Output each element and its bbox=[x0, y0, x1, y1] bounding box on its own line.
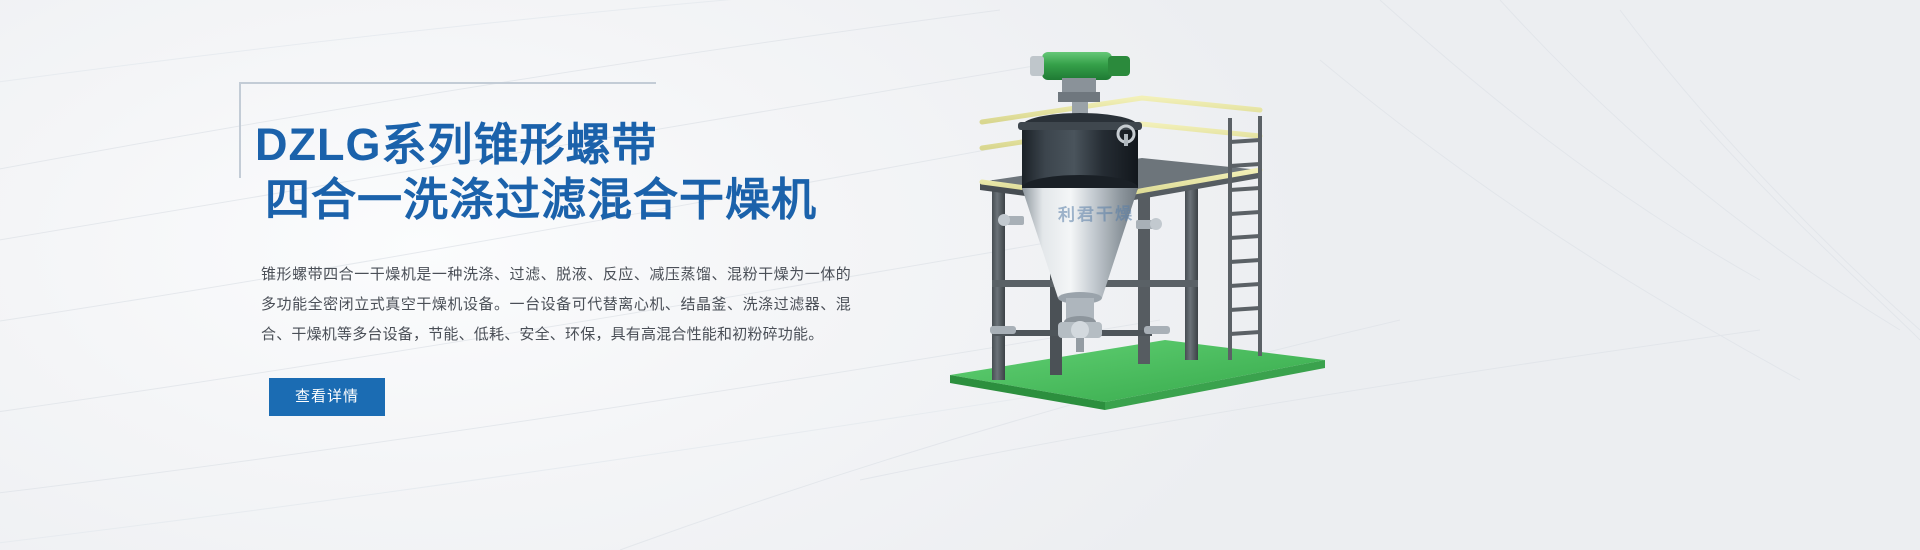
product-image: 利君干燥 bbox=[930, 30, 1350, 430]
title-line-1: DZLG系列锥形螺带 bbox=[255, 118, 875, 173]
product-watermark: 利君干燥 bbox=[1058, 199, 1134, 225]
banner-content: DZLG系列锥形螺带 四合一洗涤过滤混合干燥机 锥形螺带四合一干燥机是一种洗涤、… bbox=[255, 92, 875, 416]
decorative-frame-top bbox=[239, 82, 656, 84]
vessel-icon bbox=[1018, 113, 1142, 352]
product-description: 锥形螺带四合一干燥机是一种洗涤、过滤、脱液、反应、减压蒸馏、混粉干燥为一体的多功… bbox=[261, 260, 851, 350]
view-details-button[interactable]: 查看详情 bbox=[269, 378, 385, 416]
decorative-frame-left bbox=[239, 82, 241, 178]
title-line-2: 四合一洗涤过滤混合干燥机 bbox=[255, 173, 875, 228]
hero-banner: DZLG系列锥形螺带 四合一洗涤过滤混合干燥机 锥形螺带四合一干燥机是一种洗涤、… bbox=[0, 0, 1920, 550]
base-platform-icon bbox=[950, 340, 1325, 410]
title-block: DZLG系列锥形螺带 四合一洗涤过滤混合干燥机 bbox=[255, 92, 875, 238]
page-title: DZLG系列锥形螺带 四合一洗涤过滤混合干燥机 bbox=[255, 118, 875, 228]
ladder-icon bbox=[1230, 116, 1260, 360]
